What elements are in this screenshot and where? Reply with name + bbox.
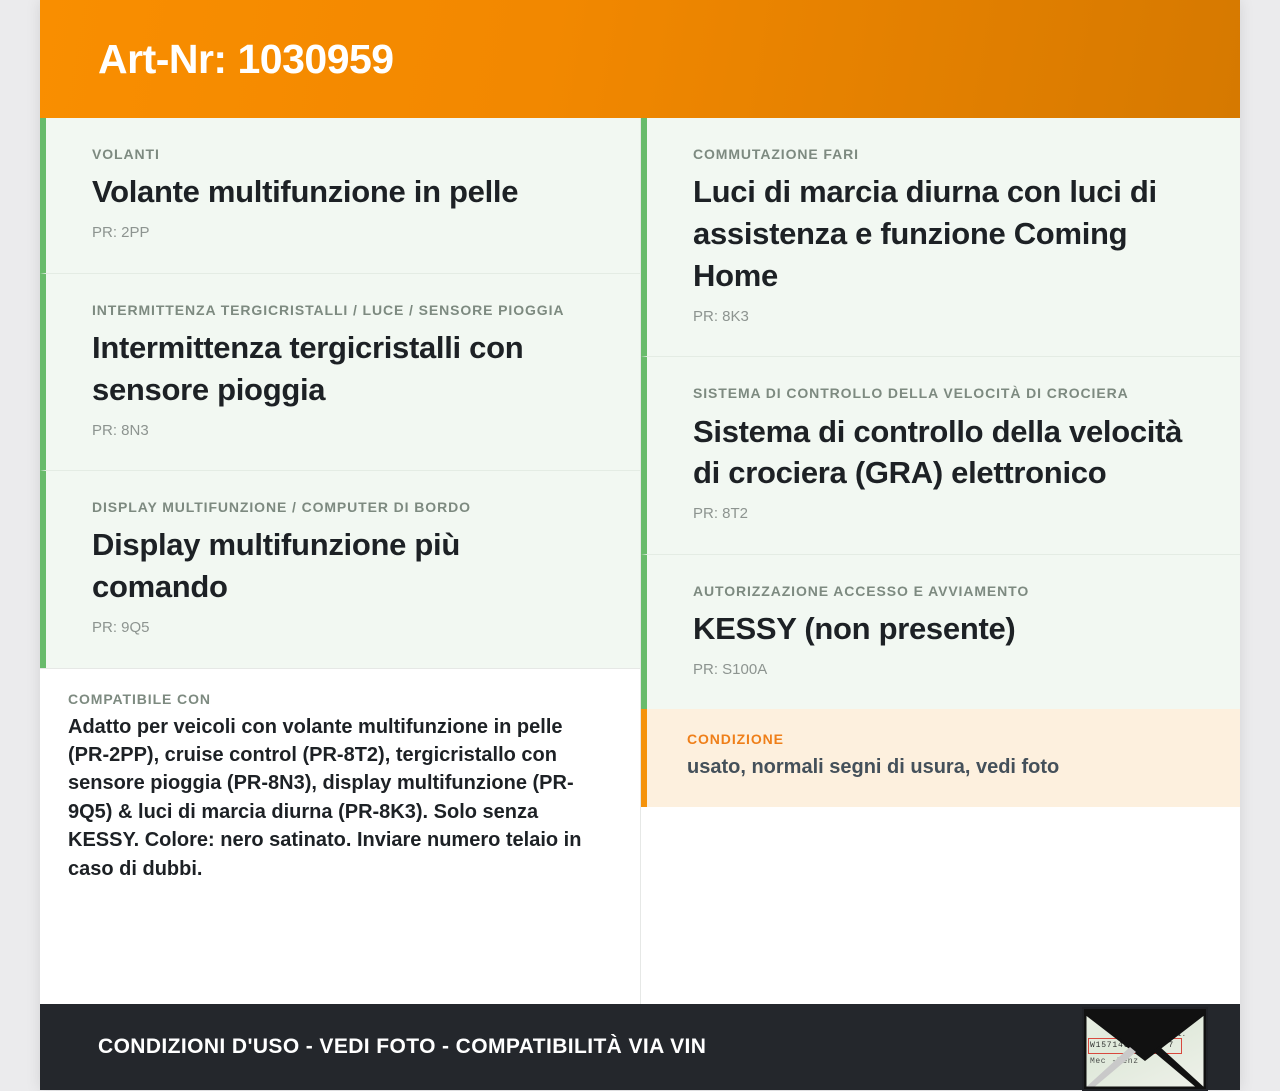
compatibility-block: COMPATIBILE CON Adatto per veicoli con v… [40, 668, 640, 907]
feature-title: KESSY (non presente) [693, 608, 1194, 650]
feature-category: SISTEMA DI CONTROLLO DELLA VELOCITÀ DI C… [693, 383, 1194, 403]
feature-pr-code: PR: S100A [693, 660, 1194, 680]
feature-title: Sistema di controllo della velocità di c… [693, 411, 1194, 495]
condition-block: CONDIZIONE usato, normali segni di usura… [641, 709, 1240, 807]
feature-card[interactable]: SISTEMA DI CONTROLLO DELLA VELOCITÀ DI C… [641, 356, 1240, 553]
feature-pr-code: PR: 8N3 [92, 421, 594, 441]
feature-card[interactable]: INTERMITTENZA TERGICRISTALLI / LUCE / SE… [40, 273, 640, 470]
compatibility-text: Adatto per veicoli con volante multifunz… [68, 713, 594, 883]
vin-envelope-badge[interactable]: Fahrgestellnr. (4) A.I. W1571463J3149 7 … [1082, 1007, 1208, 1091]
left-column: VOLANTI Volante multifunzione in pelle P… [40, 118, 640, 1004]
feature-category: INTERMITTENZA TERGICRISTALLI / LUCE / SE… [92, 300, 594, 320]
header-banner: Art-Nr: 1030959 [40, 0, 1240, 118]
feature-card[interactable]: AUTORIZZAZIONE ACCESSO E AVVIAMENTO KESS… [641, 554, 1240, 710]
feature-columns: VOLANTI Volante multifunzione in pelle P… [40, 118, 1240, 1004]
condition-text: usato, normali segni di usura, vedi foto [687, 754, 1194, 781]
feature-pr-code: PR: 2PP [92, 223, 594, 243]
feature-card[interactable]: COMMUTAZIONE FARI Luci di marcia diurna … [641, 118, 1240, 356]
compatibility-label: COMPATIBILE CON [68, 691, 594, 707]
condition-label: CONDIZIONE [687, 731, 1194, 747]
feature-title: Luci di marcia diurna con luci di assist… [693, 171, 1194, 297]
feature-category: AUTORIZZAZIONE ACCESSO E AVVIAMENTO [693, 581, 1194, 601]
envelope-icon [1084, 1009, 1206, 1089]
feature-pr-code: PR: 8T2 [693, 504, 1194, 524]
footer-notice: CONDIZIONI D'USO - VEDI FOTO - COMPATIBI… [98, 1035, 706, 1059]
right-column-spacer [641, 807, 1240, 1004]
feature-pr-code: PR: 8K3 [693, 307, 1194, 327]
footer-bar: CONDIZIONI D'USO - VEDI FOTO - COMPATIBI… [40, 1004, 1240, 1090]
right-column: COMMUTAZIONE FARI Luci di marcia diurna … [640, 118, 1240, 1004]
feature-title: Intermittenza tergicristalli con sensore… [92, 327, 594, 411]
page-title: Art-Nr: 1030959 [98, 39, 394, 80]
feature-category: DISPLAY MULTIFUNZIONE / COMPUTER DI BORD… [92, 497, 594, 517]
feature-title: Display multifunzione più comando [92, 524, 594, 608]
feature-card[interactable]: DISPLAY MULTIFUNZIONE / COMPUTER DI BORD… [40, 470, 640, 667]
feature-pr-code: PR: 9Q5 [92, 618, 594, 638]
feature-card[interactable]: VOLANTI Volante multifunzione in pelle P… [40, 118, 640, 273]
feature-category: COMMUTAZIONE FARI [693, 144, 1194, 164]
feature-title: Volante multifunzione in pelle [92, 171, 594, 213]
feature-category: VOLANTI [92, 144, 594, 164]
left-column-spacer [40, 907, 640, 1004]
listing-page: Art-Nr: 1030959 VOLANTI Volante multifun… [40, 0, 1240, 1090]
